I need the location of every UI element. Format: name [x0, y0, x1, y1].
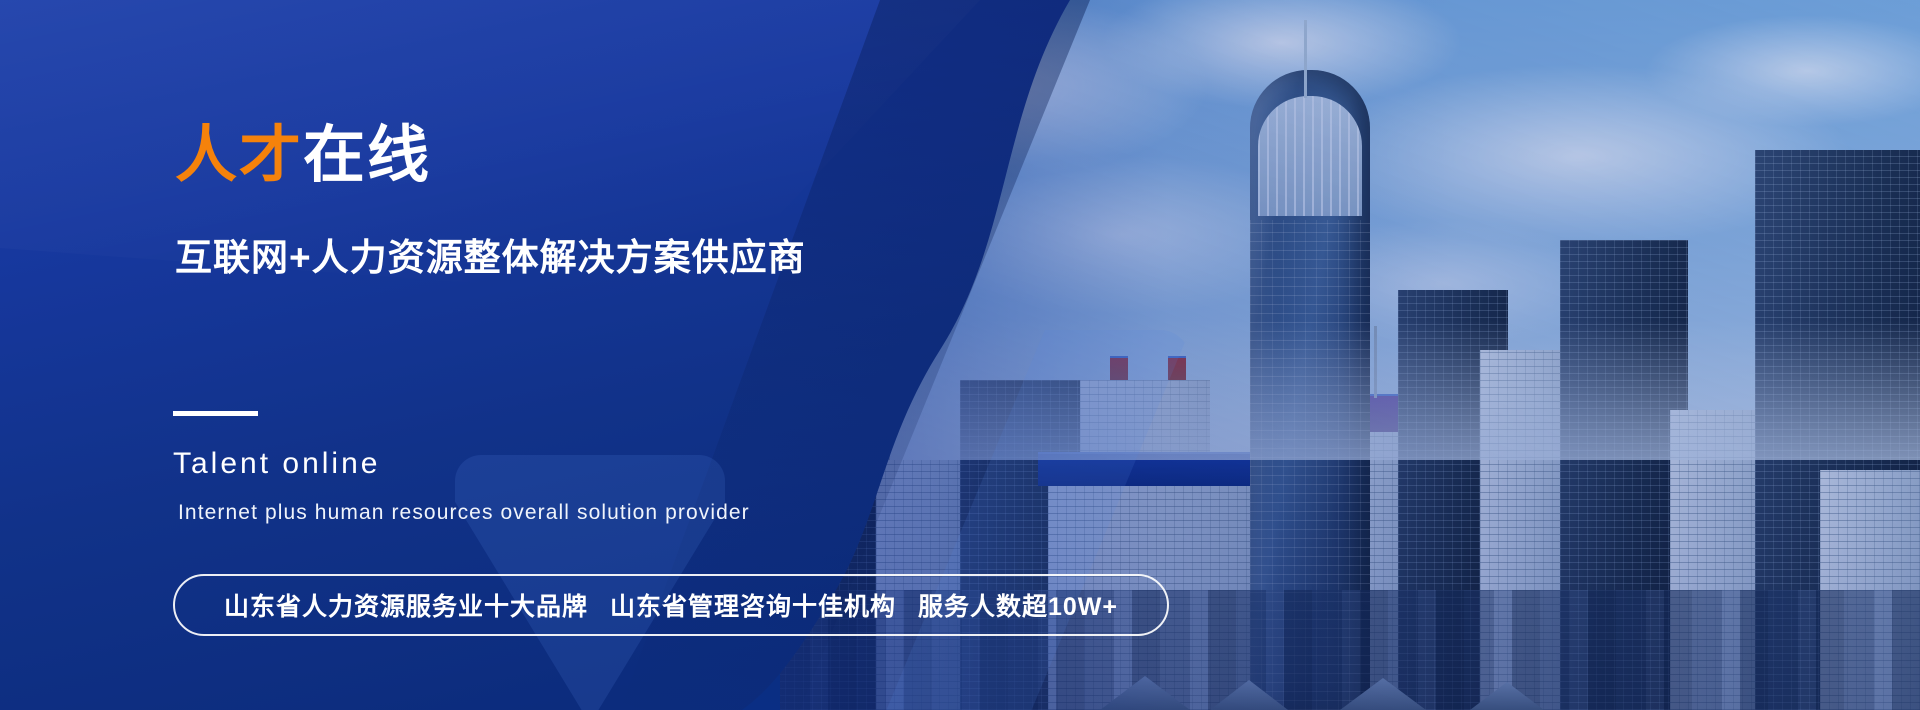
brand-title: 人才在线 — [175, 125, 431, 187]
english-subtitle: Internet plus human resources overall so… — [178, 500, 750, 525]
brand-subtitle: 互联网+人力资源整体解决方案供应商 — [175, 237, 806, 280]
credentials-badge-text: 山东省人力资源服务业十大品牌山东省管理咨询十佳机构服务人数超10W+ — [224, 587, 1118, 623]
brand-title-highlight: 人才 — [175, 121, 303, 190]
credential-item-2: 山东省管理咨询十佳机构 — [610, 593, 896, 621]
credential-item-1: 山东省人力资源服务业十大品牌 — [224, 593, 588, 621]
banner-content: 人才在线 互联网+人力资源整体解决方案供应商 Talent online Int… — [0, 0, 1920, 710]
brand-title-plain: 在线 — [303, 121, 431, 190]
english-title: Talent online — [173, 446, 380, 482]
credentials-badge: 山东省人力资源服务业十大品牌山东省管理咨询十佳机构服务人数超10W+ — [173, 574, 1169, 636]
credential-item-3: 服务人数超10W+ — [918, 593, 1118, 621]
divider-rule — [173, 411, 258, 416]
hero-banner: 人才在线 互联网+人力资源整体解决方案供应商 Talent online Int… — [0, 0, 1920, 710]
